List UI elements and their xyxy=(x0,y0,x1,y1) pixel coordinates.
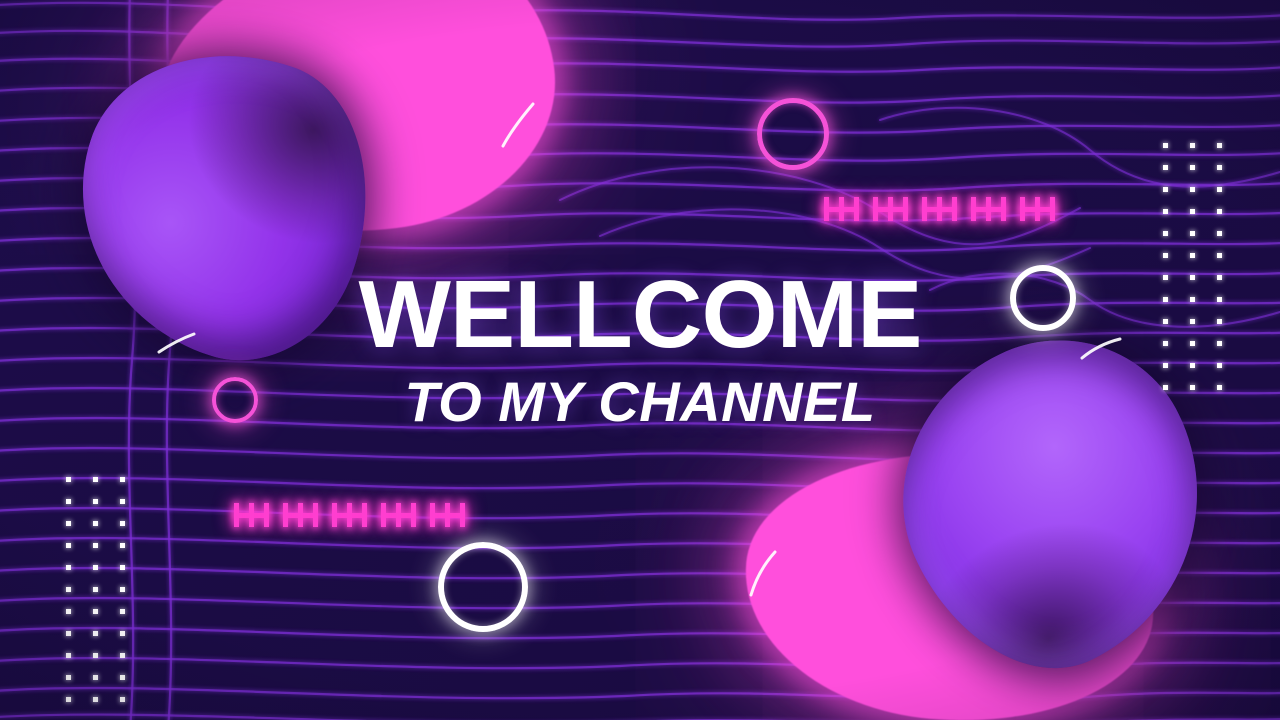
arc-accents xyxy=(0,0,1280,720)
poster-canvas: WELLCOME TO MY CHANNEL xyxy=(0,0,1280,720)
arc-left-of-pink-bottom xyxy=(751,552,775,595)
arc-top-right-of-pink xyxy=(503,104,533,146)
arc-below-bean-top-left xyxy=(159,334,194,352)
arc-above-bean-bottom-right xyxy=(1082,339,1120,358)
